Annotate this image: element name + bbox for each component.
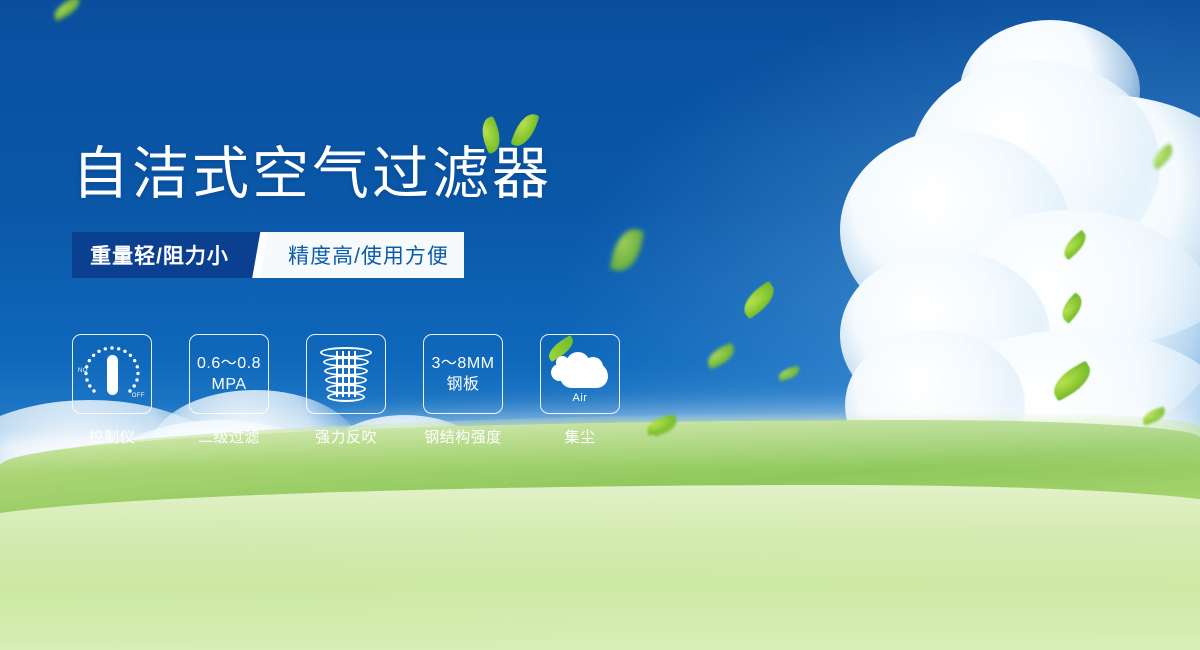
sprout-leaves-icon — [480, 110, 550, 162]
leaf-icon — [777, 366, 801, 382]
feature-icon-box: NO OFF — [72, 334, 152, 414]
leaf-icon — [1149, 143, 1177, 170]
filter-stack-icon — [318, 345, 374, 403]
feature-item[interactable]: 0.6～0.8 MPA 二级过滤 — [189, 334, 269, 447]
air-label: Air — [550, 392, 610, 404]
feature-icon-box: Air — [540, 334, 620, 414]
hero-content: 自洁式空气过滤器 重量轻/阻力小 精度高/使用方便 — [72, 138, 552, 278]
feature-item[interactable]: 3～8MM 钢板 钢结构强度 — [423, 334, 503, 447]
dial-control-icon: NO OFF — [80, 342, 144, 406]
tagline-divider — [247, 232, 273, 278]
cloud-shape — [910, 60, 1160, 270]
leaf-icon — [738, 281, 780, 320]
feature-label: 钢结构强度 — [423, 426, 503, 447]
leaf-icon — [610, 226, 645, 274]
feature-icon-box — [306, 334, 386, 414]
feature-item[interactable]: Air 集尘 — [540, 334, 620, 447]
cloud-shape — [960, 20, 1140, 160]
cloud-shape — [840, 250, 1050, 420]
feature-label: 集尘 — [540, 426, 620, 447]
leaf-icon — [1047, 360, 1096, 401]
leaf-icon — [51, 0, 84, 21]
feature-icon-box: 0.6～0.8 MPA — [189, 334, 269, 414]
leaf-icon — [1057, 292, 1088, 324]
dial-on-label: NO — [78, 368, 88, 374]
tagline-right: 精度高/使用方便 — [273, 232, 464, 278]
feature-label: 控制仪 — [72, 426, 152, 447]
grass-foreground — [0, 485, 1200, 650]
hero-banner: 自洁式空气过滤器 重量轻/阻力小 精度高/使用方便 — [0, 0, 1200, 650]
feature-item[interactable]: NO OFF 控制仪 — [72, 334, 152, 447]
feature-list: NO OFF 控制仪 0.6～0.8 MPA 二级过滤 — [72, 334, 620, 447]
pressure-text-icon: 0.6～0.8 MPA — [197, 353, 261, 395]
air-cloud-icon: Air — [550, 348, 610, 400]
feature-icon-box: 3～8MM 钢板 — [423, 334, 503, 414]
cloud-shape — [940, 95, 1200, 345]
dial-pointer-icon — [107, 355, 118, 395]
feature-label: 二级过滤 — [189, 426, 269, 447]
leaf-icon — [1059, 230, 1091, 260]
dial-off-label: OFF — [132, 393, 145, 399]
feature-item[interactable]: 强力反吹 — [306, 334, 386, 447]
feature-label: 强力反吹 — [306, 426, 386, 447]
leaf-icon — [704, 343, 738, 370]
cloud-shape — [920, 210, 1200, 440]
cloud-shape — [840, 130, 1070, 330]
tagline-banner: 重量轻/阻力小 精度高/使用方便 — [72, 232, 464, 278]
steel-plate-text-icon: 3～8MM 钢板 — [432, 353, 495, 395]
tagline-left: 重量轻/阻力小 — [72, 232, 247, 278]
